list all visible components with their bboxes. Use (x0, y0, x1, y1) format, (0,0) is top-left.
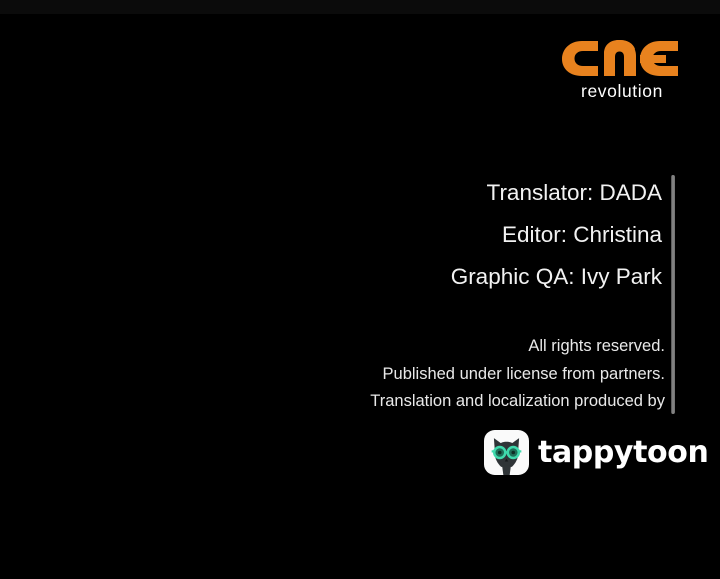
cnc-revolution-wordmark: revolution (560, 81, 684, 101)
credit-line-editor: Editor: Christina (182, 214, 662, 256)
cnc-revolution-logo: revolution (560, 38, 684, 106)
credits-divider-rule (671, 175, 675, 414)
credit-line-translator: Translator: DADA (182, 172, 662, 214)
top-edge-strip (0, 0, 720, 14)
legal-line-localization: Translation and localization produced by (145, 388, 665, 416)
legal-line-rights: All rights reserved. (145, 333, 665, 361)
cat-with-glasses-icon (484, 430, 529, 475)
legal-notice-block: All rights reserved. Published under lic… (145, 333, 665, 416)
tappytoon-wordmark: tappytoon (538, 438, 708, 468)
credit-line-graphic-qa: Graphic QA: Ivy Park (182, 256, 662, 298)
cnc-wordmark-icon (560, 38, 684, 78)
credits-block: Translator: DADA Editor: Christina Graph… (182, 172, 662, 298)
tappytoon-logo: tappytoon (484, 430, 708, 475)
legal-line-license: Published under license from partners. (145, 361, 665, 389)
